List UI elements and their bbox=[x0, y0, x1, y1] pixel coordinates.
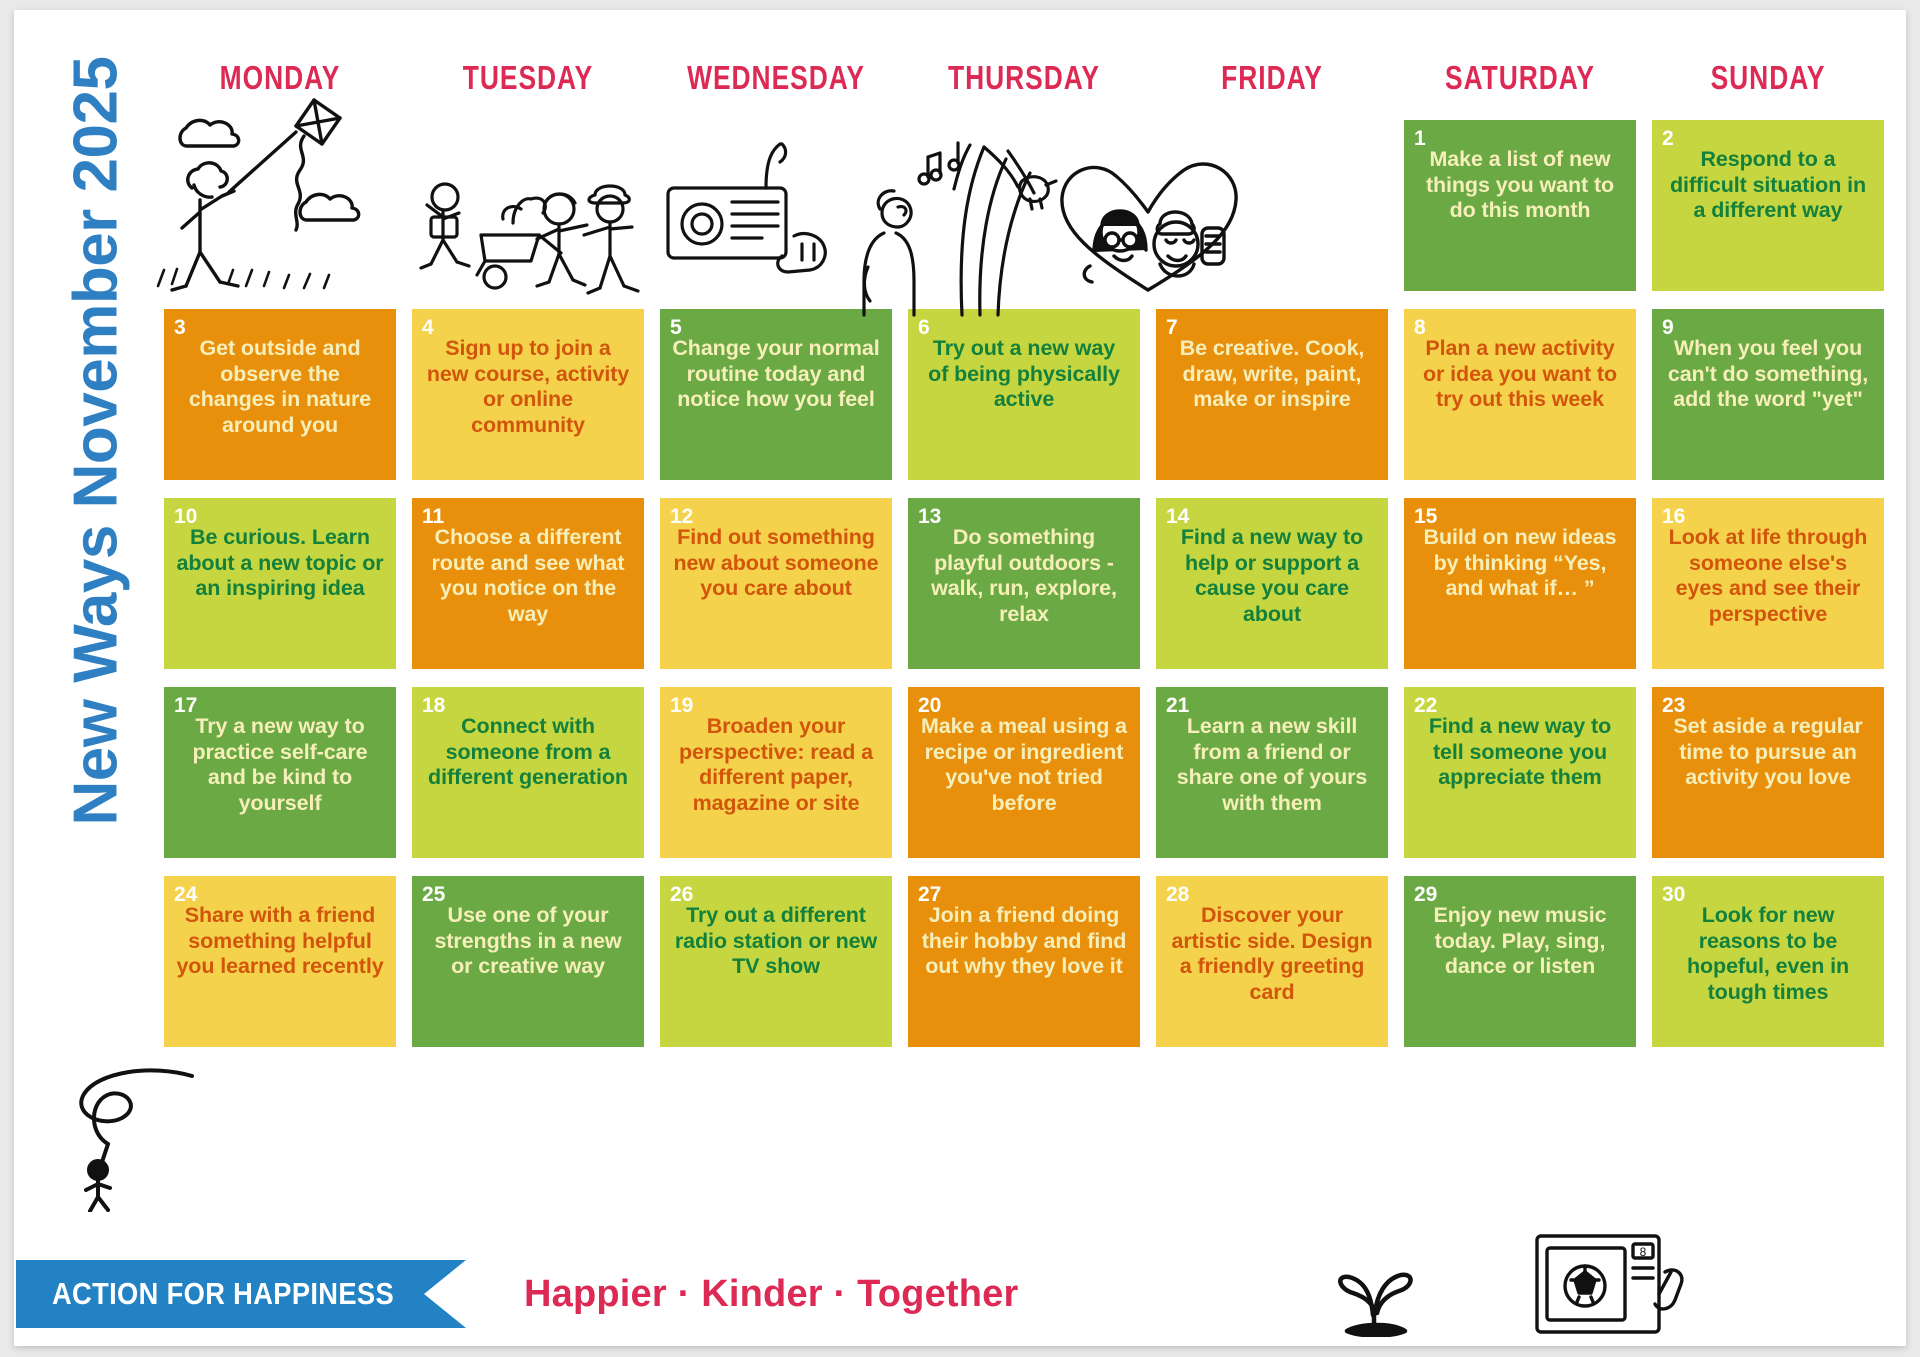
day-action-text: Enjoy new music today. Play, sing, dance… bbox=[1414, 903, 1626, 1037]
calendar-day-cell-13[interactable]: 13Do something playful outdoors - walk, … bbox=[908, 498, 1140, 669]
calendar-week-row: 3Get outside and observe the changes in … bbox=[164, 309, 1884, 480]
calendar-day-cell-17[interactable]: 17Try a new way to practice self-care an… bbox=[164, 687, 396, 858]
calendar-day-cell-15[interactable]: 15Build on new ideas by thinking “Yes, a… bbox=[1404, 498, 1636, 669]
day-action-text: Make a list of new things you want to do… bbox=[1414, 147, 1626, 281]
day-action-text: Find a new way to tell someone you appre… bbox=[1414, 714, 1626, 848]
calendar-cell-empty bbox=[660, 120, 892, 291]
calendar-week-row: 10Be curious. Learn about a new topic or… bbox=[164, 498, 1884, 669]
calendar-day-cell-9[interactable]: 9When you feel you can't do something, a… bbox=[1652, 309, 1884, 480]
day-action-text: Find a new way to help or support a caus… bbox=[1166, 525, 1378, 659]
day-action-text: Be creative. Cook, draw, write, paint, m… bbox=[1166, 336, 1378, 470]
calendar-day-cell-28[interactable]: 28Discover your artistic side. Design a … bbox=[1156, 876, 1388, 1047]
calendar-day-cell-12[interactable]: 12Find out something new about someone y… bbox=[660, 498, 892, 669]
day-action-text: Do something playful outdoors - walk, ru… bbox=[918, 525, 1130, 659]
day-action-text: Connect with someone from a different ge… bbox=[422, 714, 634, 848]
calendar-week-row: 17Try a new way to practice self-care an… bbox=[164, 687, 1884, 858]
calendar-page: New Ways November 2025 MONDAYTUESDAYWEDN… bbox=[14, 10, 1906, 1346]
calendar-cell-empty bbox=[1156, 120, 1388, 291]
calendar-day-cell-7[interactable]: 7Be creative. Cook, draw, write, paint, … bbox=[1156, 309, 1388, 480]
day-action-text: Discover your artistic side. Design a fr… bbox=[1166, 903, 1378, 1037]
calendar-day-cell-19[interactable]: 19Broaden your perspective: read a diffe… bbox=[660, 687, 892, 858]
calendar-day-cell-21[interactable]: 21Learn a new skill from a friend or sha… bbox=[1156, 687, 1388, 858]
calendar-day-cell-20[interactable]: 20Make a meal using a recipe or ingredie… bbox=[908, 687, 1140, 858]
logo-label: ACTION FOR HAPPINESS bbox=[52, 1276, 394, 1312]
calendar-day-cell-23[interactable]: 23Set aside a regular time to pursue an … bbox=[1652, 687, 1884, 858]
calendar-day-cell-25[interactable]: 25Use one of your strengths in a new or … bbox=[412, 876, 644, 1047]
day-action-text: Be curious. Learn about a new topic or a… bbox=[174, 525, 386, 659]
calendar-day-cell-18[interactable]: 18Connect with someone from a different … bbox=[412, 687, 644, 858]
calendar-day-cell-30[interactable]: 30Look for new reasons to be hopeful, ev… bbox=[1652, 876, 1884, 1047]
calendar-day-cell-10[interactable]: 10Be curious. Learn about a new topic or… bbox=[164, 498, 396, 669]
calendar-cell-empty bbox=[164, 120, 396, 291]
calendar-week-row: 1Make a list of new things you want to d… bbox=[164, 120, 1884, 291]
calendar-day-cell-4[interactable]: 4Sign up to join a new course, activity … bbox=[412, 309, 644, 480]
day-action-text: Plan a new activity or idea you want to … bbox=[1414, 336, 1626, 470]
footer-bar: ACTION FOR HAPPINESS Happier · Kinder · … bbox=[14, 1260, 1906, 1328]
day-action-text: Share with a friend something helpful yo… bbox=[174, 903, 386, 1037]
calendar-day-cell-6[interactable]: 6Try out a new way of being physically a… bbox=[908, 309, 1140, 480]
calendar-grid: MONDAYTUESDAYWEDNESDAYTHURSDAYFRIDAYSATU… bbox=[164, 58, 1884, 1248]
day-action-text: Broaden your perspective: read a differe… bbox=[670, 714, 882, 848]
day-action-text: Look for new reasons to be hopeful, even… bbox=[1662, 903, 1874, 1037]
day-header-tuesday: TUESDAY bbox=[435, 58, 621, 110]
day-header-sunday: SUNDAY bbox=[1675, 58, 1861, 110]
calendar-cell-empty bbox=[908, 120, 1140, 291]
day-action-text: Learn a new skill from a friend or share… bbox=[1166, 714, 1378, 848]
calendar-day-cell-2[interactable]: 2Respond to a difficult situation in a d… bbox=[1652, 120, 1884, 291]
calendar-day-cell-26[interactable]: 26Try out a different radio station or n… bbox=[660, 876, 892, 1047]
calendar-week-row: 24Share with a friend something helpful … bbox=[164, 876, 1884, 1047]
day-action-text: Change your normal routine today and not… bbox=[670, 336, 882, 470]
day-action-text: Build on new ideas by thinking “Yes, and… bbox=[1414, 525, 1626, 659]
day-action-text: Try a new way to practice self-care and … bbox=[174, 714, 386, 848]
calendar-day-cell-3[interactable]: 3Get outside and observe the changes in … bbox=[164, 309, 396, 480]
day-action-text: Respond to a difficult situation in a di… bbox=[1662, 147, 1874, 281]
day-action-text: Try out a new way of being physically ac… bbox=[918, 336, 1130, 470]
calendar-day-cell-24[interactable]: 24Share with a friend something helpful … bbox=[164, 876, 396, 1047]
calendar-day-cell-5[interactable]: 5Change your normal routine today and no… bbox=[660, 309, 892, 480]
day-action-text: Join a friend doing their hobby and find… bbox=[918, 903, 1130, 1037]
calendar-day-cell-8[interactable]: 8Plan a new activity or idea you want to… bbox=[1404, 309, 1636, 480]
page-title: New Ways November 2025 bbox=[61, 126, 132, 826]
tagline: Happier · Kinder · Together bbox=[524, 1268, 1019, 1320]
day-action-text: Find out something new about someone you… bbox=[670, 525, 882, 659]
calendar-cell-empty bbox=[412, 120, 644, 291]
calendar-day-cell-11[interactable]: 11Choose a different route and see what … bbox=[412, 498, 644, 669]
calendar-day-cell-27[interactable]: 27Join a friend doing their hobby and fi… bbox=[908, 876, 1140, 1047]
day-header-monday: MONDAY bbox=[187, 58, 373, 110]
day-header-friday: FRIDAY bbox=[1179, 58, 1365, 110]
day-action-text: When you feel you can't do something, ad… bbox=[1662, 336, 1874, 470]
day-header-saturday: SATURDAY bbox=[1427, 58, 1613, 110]
calendar-day-cell-29[interactable]: 29Enjoy new music today. Play, sing, dan… bbox=[1404, 876, 1636, 1047]
calendar-weeks: 1Make a list of new things you want to d… bbox=[164, 120, 1884, 1047]
day-header-wednesday: WEDNESDAY bbox=[683, 58, 869, 110]
day-action-text: Get outside and observe the changes in n… bbox=[174, 336, 386, 470]
day-header-thursday: THURSDAY bbox=[931, 58, 1117, 110]
calendar-day-cell-22[interactable]: 22Find a new way to tell someone you app… bbox=[1404, 687, 1636, 858]
day-action-text: Try out a different radio station or new… bbox=[670, 903, 882, 1037]
day-action-text: Use one of your strengths in a new or cr… bbox=[422, 903, 634, 1037]
calendar-day-cell-14[interactable]: 14Find a new way to help or support a ca… bbox=[1156, 498, 1388, 669]
day-action-text: Sign up to join a new course, activity o… bbox=[422, 336, 634, 470]
day-action-text: Look at life through someone else's eyes… bbox=[1662, 525, 1874, 659]
day-action-text: Make a meal using a recipe or ingredient… bbox=[918, 714, 1130, 848]
day-header-row: MONDAYTUESDAYWEDNESDAYTHURSDAYFRIDAYSATU… bbox=[164, 58, 1884, 110]
action-for-happiness-logo[interactable]: ACTION FOR HAPPINESS bbox=[16, 1260, 466, 1328]
calendar-day-cell-1[interactable]: 1Make a list of new things you want to d… bbox=[1404, 120, 1636, 291]
day-action-text: Set aside a regular time to pursue an ac… bbox=[1662, 714, 1874, 848]
day-action-text: Choose a different route and see what yo… bbox=[422, 525, 634, 659]
calendar-day-cell-16[interactable]: 16Look at life through someone else's ey… bbox=[1652, 498, 1884, 669]
